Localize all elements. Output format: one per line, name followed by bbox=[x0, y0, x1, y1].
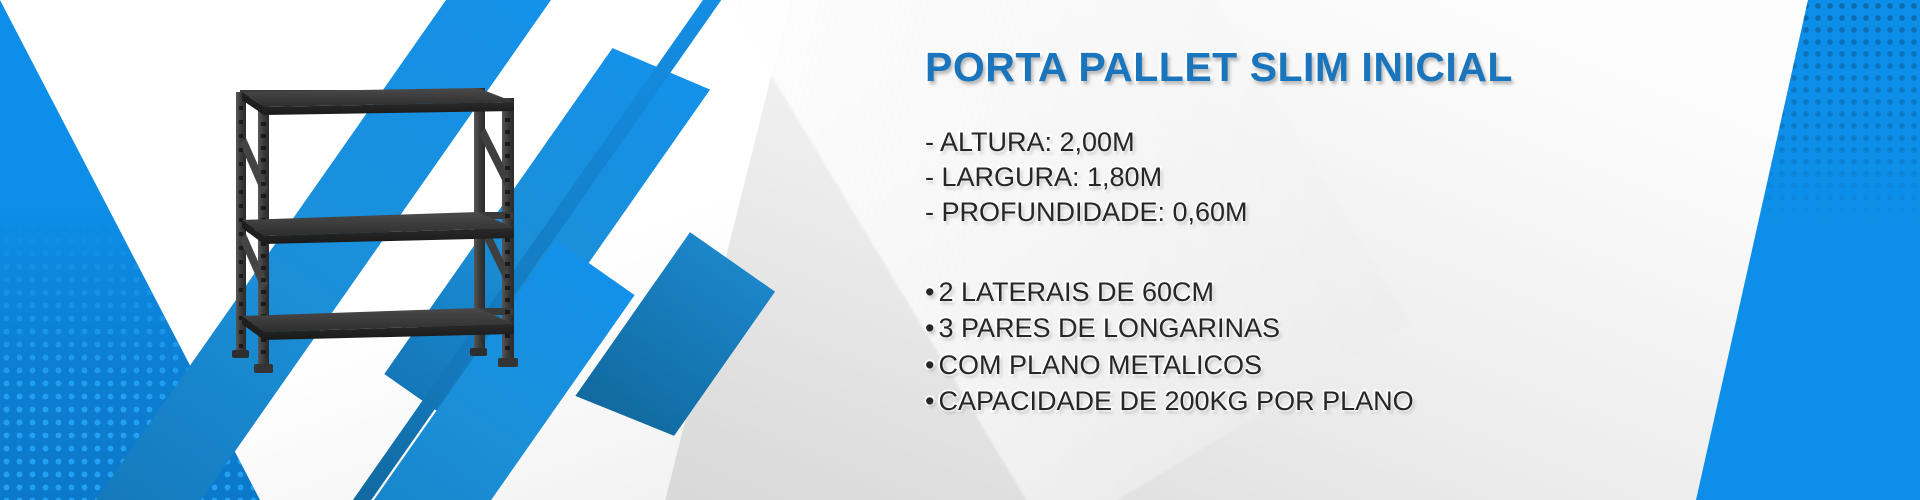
feature-item-label: COM PLANO METALICOS bbox=[938, 350, 1262, 380]
feature-item-label: 2 LATERAIS DE 60CM bbox=[938, 277, 1214, 307]
bullet-icon: • bbox=[925, 350, 934, 380]
feature-item-label: CAPACIDADE DE 200KG POR PLANO bbox=[938, 386, 1413, 416]
spec-item-largura: - LARGURA: 1,80M bbox=[925, 160, 1765, 195]
product-title: PORTA PALLET SLIM INICIAL bbox=[925, 44, 1765, 91]
spec-item-altura: - ALTURA: 2,00M bbox=[925, 125, 1765, 160]
feature-item-laterais: •2 LATERAIS DE 60CM bbox=[925, 274, 1765, 310]
feature-item-plano-metalicos: •COM PLANO METALICOS bbox=[925, 347, 1765, 383]
banner-content: PORTA PALLET SLIM INICIAL - ALTURA: 2,00… bbox=[925, 44, 1765, 419]
feature-item-label: 3 PARES DE LONGARINAS bbox=[938, 313, 1280, 343]
product-image-shelving-rack bbox=[206, 62, 526, 392]
bullet-icon: • bbox=[925, 277, 934, 307]
feature-bullet-list: •2 LATERAIS DE 60CM •3 PARES DE LONGARIN… bbox=[925, 274, 1765, 419]
spec-item-profundidade: - PROFUNDIDADE: 0,60M bbox=[925, 195, 1765, 230]
feature-item-capacidade: •CAPACIDADE DE 200KG POR PLANO bbox=[925, 383, 1765, 419]
feature-item-longarinas: •3 PARES DE LONGARINAS bbox=[925, 310, 1765, 346]
promotional-banner: PORTA PALLET SLIM INICIAL - ALTURA: 2,00… bbox=[0, 0, 1920, 500]
bullet-icon: • bbox=[925, 313, 934, 343]
diagonal-stripe-secondary-lower bbox=[575, 232, 775, 455]
bullet-icon: • bbox=[925, 386, 934, 416]
dimension-spec-list: - ALTURA: 2,00M - LARGURA: 1,80M - PROFU… bbox=[925, 125, 1765, 230]
